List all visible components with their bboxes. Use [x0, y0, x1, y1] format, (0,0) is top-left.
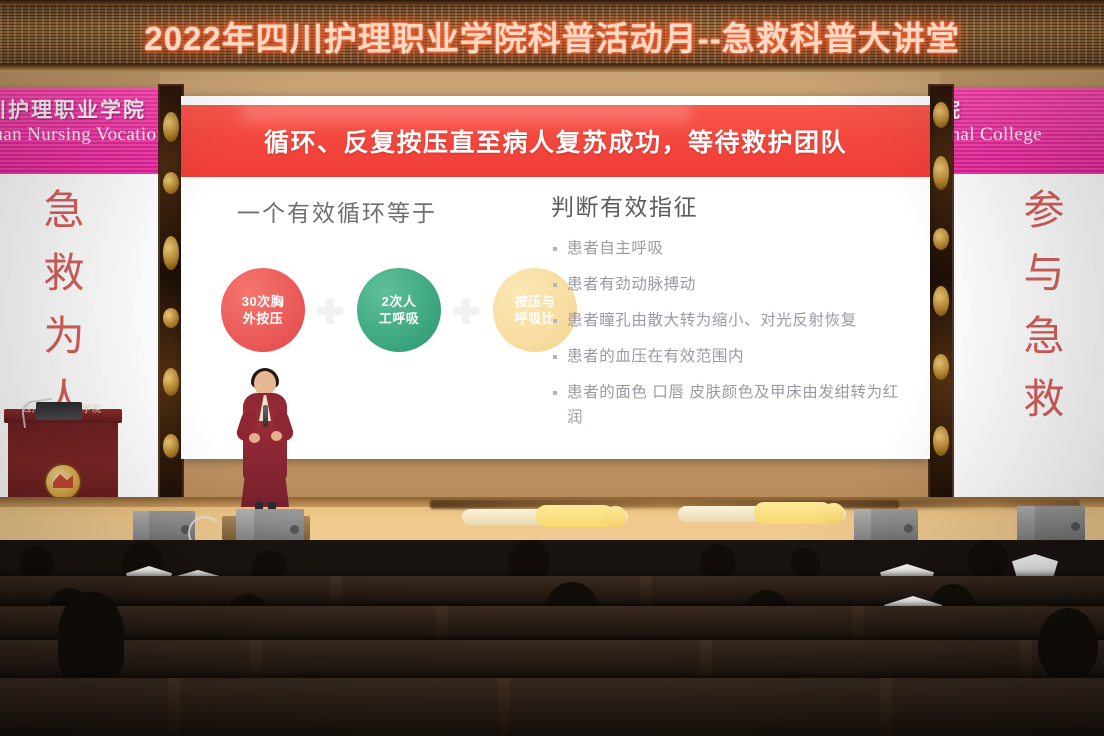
led-banner-top-edge [0, 0, 1104, 5]
circle-ratio-line1: 按压与 [515, 293, 556, 310]
list-item: 患者自主呼吸 [551, 236, 899, 261]
cpr-manikin-head [604, 506, 626, 527]
equals-operator-icon [453, 298, 479, 324]
list-item: 患者有劲动脉搏动 [551, 272, 899, 297]
led-banner: 2022年四川护理职业学院科普活动月--急救科普大讲堂 [0, 0, 1104, 72]
left-banner-title-en: Sichuan Nursing Vocational College [0, 124, 162, 145]
led-banner-text: 2022年四川护理职业学院科普活动月--急救科普大讲堂 [144, 12, 959, 60]
cpr-manikin [678, 500, 846, 526]
slide-left-heading: 一个有效循环等于 [217, 194, 547, 228]
cpr-manikin [462, 503, 628, 529]
circle-rescue-breaths: 2次人 工呼吸 [357, 268, 441, 352]
cpr-manikin-torso [536, 505, 614, 527]
circle-chest-compressions: 30次胸 外按压 [221, 268, 305, 352]
seat-divider [498, 678, 510, 736]
right-banner-header: 四川护理职业学院 Sichuan Nursing Vocational Coll… [948, 88, 1104, 174]
plus-operator-icon [317, 298, 343, 324]
right-banner-title-en: Sichuan Nursing Vocational College [948, 124, 1042, 145]
monitor-face [1017, 506, 1035, 543]
circle-ratio-line2: 呼吸比 [515, 310, 556, 327]
seat-divider [250, 640, 262, 682]
effectiveness-indicator-list: 患者自主呼吸 患者有劲动脉搏动 患者瞳孔由散大转为缩小、对光反射恢复 患者的血压… [551, 236, 899, 430]
presenter-skirt [241, 459, 289, 507]
presenter-right-hand [271, 431, 282, 441]
seat-divider [852, 606, 864, 642]
audience-head [700, 544, 736, 580]
college-emblem [46, 465, 80, 499]
seat-row [0, 606, 1104, 642]
right-vertical-banner: 四川护理职业学院 Sichuan Nursing Vocational Coll… [948, 88, 1104, 506]
monitor-face [854, 509, 871, 544]
seat-divider [1020, 640, 1032, 682]
presenter-left-hand [249, 433, 260, 443]
audience-head [1038, 608, 1098, 682]
podium-microphone-stand [20, 398, 55, 428]
slide-right-column: 判断有效指征 患者自主呼吸 患者有劲动脉搏动 患者瞳孔由散大转为缩小、对光反射恢… [551, 188, 899, 441]
stage-monitor-speaker [854, 509, 918, 544]
slide-title: 循环、反复按压直至病人复苏成功，等待救护团队 [264, 123, 847, 159]
right-banner-vertical-text: 参与急救 [1010, 188, 1070, 440]
circle-rescue-breaths-line2: 工呼吸 [379, 310, 420, 327]
audience-head [20, 546, 54, 580]
presenter [237, 371, 295, 523]
led-banner-bottom-edge [0, 64, 1104, 72]
seat-row [0, 678, 1104, 736]
right-carved-column [930, 86, 952, 506]
circle-rescue-breaths-line1: 2次人 [379, 293, 420, 310]
presenter-microphone [263, 405, 268, 427]
circle-chest-compressions-line1: 30次胸 [242, 293, 284, 310]
slide-right-heading: 判断有效指征 [551, 188, 899, 222]
seat-divider [436, 606, 448, 642]
left-carved-column [160, 86, 182, 506]
right-banner-body: 参与急救 [948, 174, 1104, 506]
seat-divider [168, 678, 180, 736]
stage-monitor-speaker [1017, 506, 1085, 543]
audience-head [58, 592, 124, 684]
left-banner-title-cn: 四川护理职业学院 [0, 94, 146, 124]
cpr-cycle-circles: 30次胸 外按压 2次人 工呼吸 按压与 呼吸比 [217, 268, 547, 360]
audience-head [968, 540, 1008, 580]
slide-title-band: 循环、反复按压直至病人复苏成功，等待救护团队 [181, 105, 930, 177]
audience-area [0, 540, 1104, 736]
circle-chest-compressions-line2: 外按压 [242, 310, 284, 327]
left-banner-header: 四川护理职业学院 Sichuan Nursing Vocational Coll… [0, 88, 162, 174]
seat-row [0, 640, 1104, 682]
seat-divider [330, 576, 342, 606]
seat-divider [880, 678, 892, 736]
list-item: 患者瞳孔由散大转为缩小、对光反射恢复 [551, 308, 899, 333]
seat-divider [700, 640, 712, 682]
seat-divider [640, 576, 652, 606]
slide-left-column: 一个有效循环等于 30次胸 外按压 2次人 工呼吸 [217, 194, 547, 228]
cpr-manikin-torso [754, 502, 832, 524]
audience-head [790, 548, 820, 578]
list-item: 患者的面色 口唇 皮肤颜色及甲床由发绀转为红润 [551, 380, 899, 430]
list-item: 患者的血压在有效范围内 [551, 344, 899, 369]
cpr-manikin-head [822, 503, 844, 524]
auditorium-photo: 2022年四川护理职业学院科普活动月--急救科普大讲堂 四川护理职业学院 Sic… [0, 0, 1104, 736]
